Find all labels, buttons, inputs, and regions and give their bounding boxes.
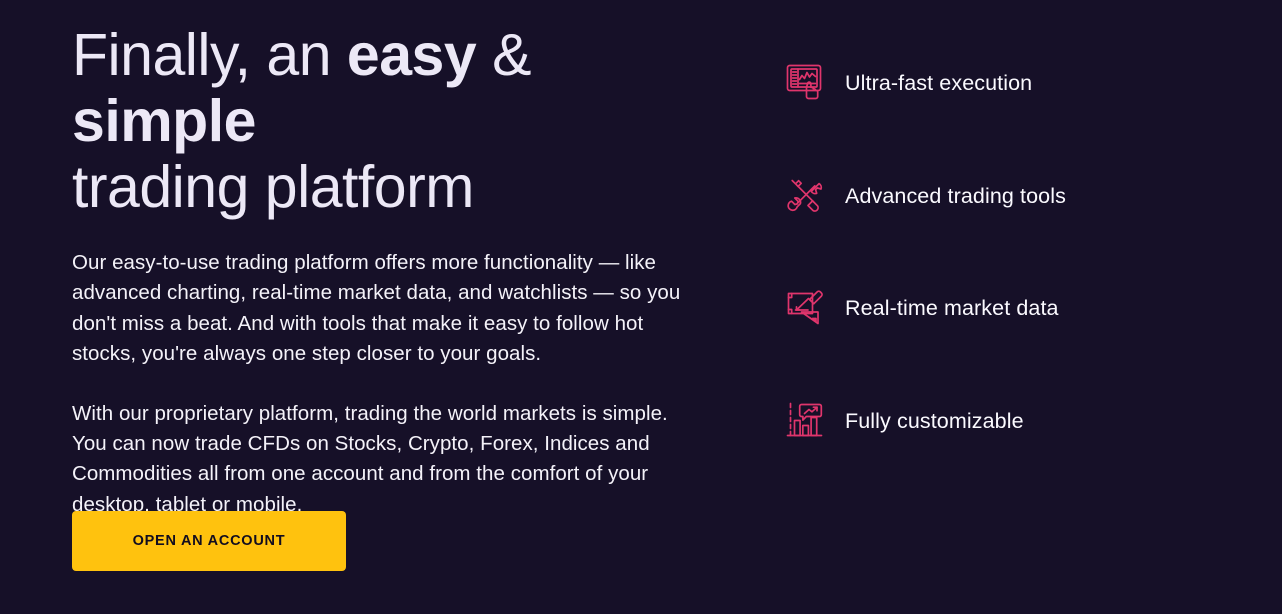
feature-list: Ultra-fast execution Advanced trading to…: [783, 0, 1253, 614]
feature-label: Ultra-fast execution: [845, 70, 1032, 96]
headline-part-1: Finally, an: [72, 22, 347, 88]
pencil-ruler-sheet-icon: [783, 285, 829, 331]
feature-item-real-time-market-data[interactable]: Real-time market data: [783, 283, 1253, 333]
feature-label: Real-time market data: [845, 295, 1059, 321]
hero-paragraph-2: With our proprietary platform, trading t…: [72, 399, 684, 521]
page-title: Finally, an easy & simpletrading platfor…: [72, 0, 712, 220]
headline-emphasis-simple: simple: [72, 88, 256, 154]
feature-item-ultra-fast-execution[interactable]: Ultra-fast execution: [783, 58, 1253, 108]
monitor-chart-cursor-icon: [783, 60, 829, 106]
hero-text-column: Finally, an easy & simpletrading platfor…: [72, 0, 712, 614]
open-an-account-button[interactable]: OPEN AN ACCOUNT: [72, 511, 346, 571]
bar-chart-arrow-bubble-icon: [783, 398, 829, 444]
feature-label: Advanced trading tools: [845, 183, 1066, 209]
hero-section: Finally, an easy & simpletrading platfor…: [0, 0, 1282, 614]
feature-label: Fully customizable: [845, 408, 1024, 434]
feature-item-fully-customizable[interactable]: Fully customizable: [783, 396, 1253, 446]
feature-item-advanced-trading-tools[interactable]: Advanced trading tools: [783, 171, 1253, 221]
headline-emphasis-easy: easy: [347, 22, 476, 88]
wrench-screwdriver-icon: [783, 173, 829, 219]
headline-line-2: trading platform: [72, 154, 474, 220]
hero-paragraph-1: Our easy-to-use trading platform offers …: [72, 248, 684, 370]
headline-connector: &: [476, 22, 547, 88]
